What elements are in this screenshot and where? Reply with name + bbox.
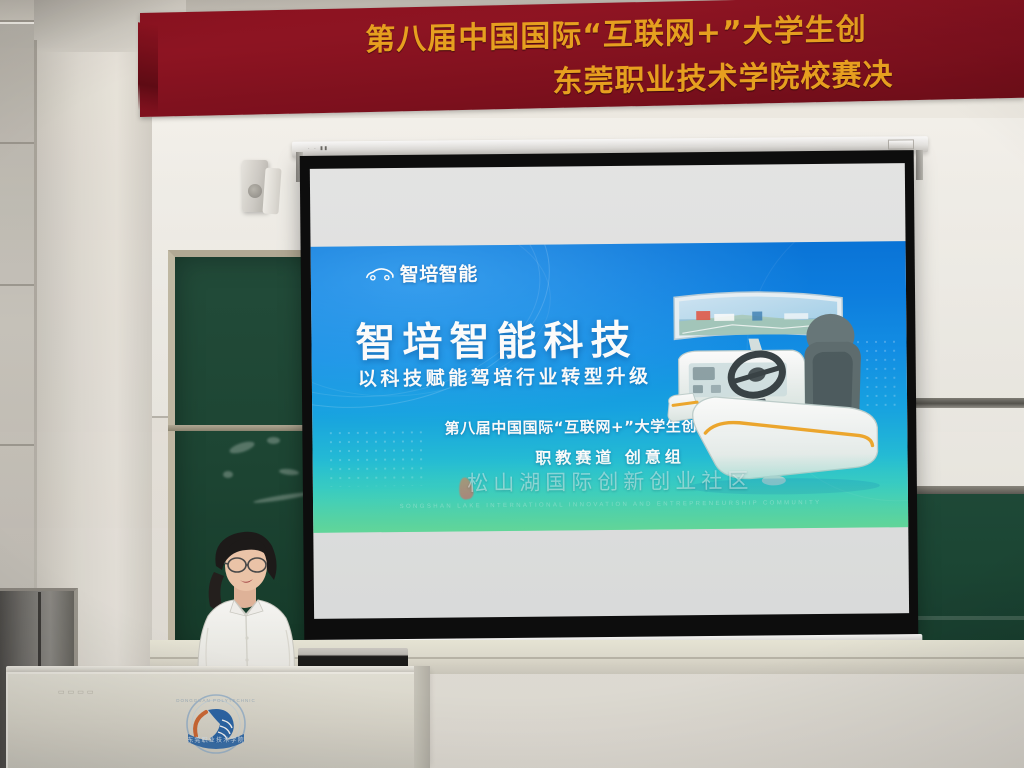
podium-right-edge [414, 666, 430, 768]
slide-brand-lockup: 智培智能 [365, 259, 478, 287]
school-crest: 东莞职业技术学院 DONGGUAN POLYTECHNIC [168, 690, 264, 762]
slide-subtitle: 以科技赋能驾培行业转型升级 [358, 362, 652, 392]
chalk-smudge [279, 468, 300, 476]
svg-text:DONGGUAN POLYTECHNIC: DONGGUAN POLYTECHNIC [176, 698, 255, 703]
svg-text:东莞职业技术学院: 东莞职业技术学院 [187, 736, 245, 744]
slide-watermark: 松山湖国际创新创业社区 [313, 463, 908, 499]
chalk-smudge [223, 471, 233, 478]
housing-label: · · ▮▮ [308, 145, 329, 151]
speaker-mount-arm [262, 167, 281, 214]
presentation-slide: 智培智能 智培智能科技 以科技赋能驾培行业转型升级 第八届中国国际“互联网+”大… [311, 241, 909, 533]
competition-banner: 第八届中国国际“互联网+”大学生创 东莞职业技术学院校赛决 [140, 0, 1024, 117]
projection-screen[interactable]: 智培智能 智培智能科技 以科技赋能驾培行业转型升级 第八届中国国际“互联网+”大… [300, 150, 919, 641]
chalk-smudge [228, 439, 256, 456]
slide-title: 智培智能科技 [355, 308, 638, 369]
car-outline-icon [365, 267, 395, 281]
banner-line-2: 东莞职业技术学院校赛决 [553, 50, 894, 101]
housing-end-cap [888, 139, 914, 149]
speaker-cone-icon [248, 184, 262, 198]
podium-brandmark: ▭▭▭▭ [58, 688, 96, 696]
classroom-photo-scene: 第八届中国国际“互联网+”大学生创 东莞职业技术学院校赛决 · · ▮▮ [0, 0, 1024, 768]
slide-brand-name: 智培智能 [400, 259, 478, 287]
banner-fold [138, 22, 158, 114]
chalk-smudge [267, 437, 280, 444]
screen-bracket-right [916, 150, 923, 180]
screen-surface: 智培智能 智培智能科技 以科技赋能驾培行业转型升级 第八届中国国际“互联网+”大… [310, 163, 909, 619]
